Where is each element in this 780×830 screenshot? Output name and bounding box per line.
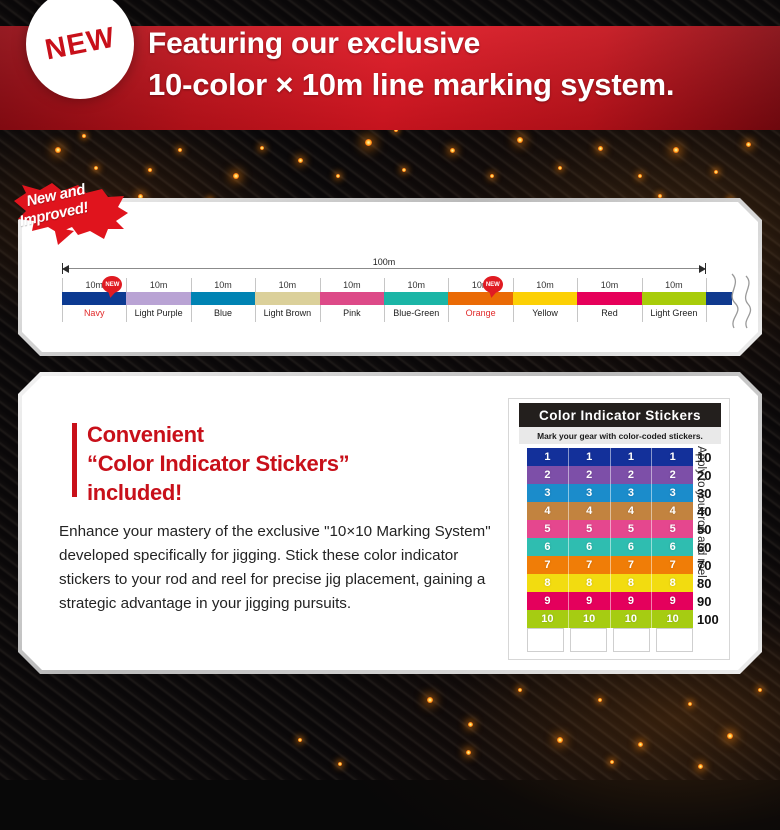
color-segment: 10mLight Green [642,278,706,322]
sticker-cell[interactable]: 2 [568,466,610,484]
segment-color-swatch [191,292,255,305]
sticker-cell[interactable]: 4 [568,502,610,520]
sticker-cell[interactable]: 3 [610,484,652,502]
sticker-cell[interactable]: 7 [527,556,568,574]
sticker-depth-label: 100 [697,610,731,628]
sticker-cell[interactable]: 5 [651,520,693,538]
sticker-cell[interactable]: 1 [527,448,568,466]
sticker-card-subtitle: Mark your gear with color-coded stickers… [537,431,703,441]
headline-line-2: “Color Indicator Stickers” [87,449,507,478]
segment-color-name: Red [577,306,641,320]
color-segment: 10mLight Brown [255,278,319,322]
segment-distance-label: 10m [191,278,255,292]
sticker-cell[interactable]: 4 [527,502,568,520]
sticker-cell[interactable]: 8 [568,574,610,592]
scale-arrow-left-icon [62,265,69,273]
sticker-cell[interactable]: 8 [610,574,652,592]
sticker-cell[interactable]: 10 [610,610,652,628]
segment-distance-label: 10m [448,278,512,292]
scale-total-label: 100m [366,257,403,267]
sticker-cell[interactable]: 9 [610,592,652,610]
headline-group: Convenient “Color Indicator Stickers” in… [87,420,507,507]
sticker-cell[interactable]: 6 [527,538,568,556]
header-title-line-2: 10-color × 10m line marking system. [148,68,674,101]
segment-color-name: Light Green [642,306,706,320]
sticker-cell[interactable]: 4 [610,502,652,520]
sticker-cell[interactable]: 2 [651,466,693,484]
sticker-cell[interactable]: 9 [568,592,610,610]
sticker-cell[interactable]: 5 [568,520,610,538]
sticker-cell[interactable]: 1 [651,448,693,466]
sticker-cell[interactable]: 9 [527,592,568,610]
segment-color-swatch [255,292,319,305]
color-segment: 10mPink [320,278,384,322]
segment-color-name: Light Brown [255,306,319,320]
scale-ruler: 100m [62,263,706,275]
header-title-group: Featuring our exclusive 10-color × 10m l… [148,28,674,102]
segment-color-name: Light Purple [126,306,190,320]
color-segment: 10mOrangeNEW [448,278,512,322]
sticker-depth-label: 90 [697,592,731,610]
sticker-grid: 1111102222203333304444405555506666607777… [527,448,693,628]
new-and-improved-badge: New and Improved! [12,183,130,245]
sticker-side-note: Apply to your rod and reel. [695,446,707,581]
segment-distance-label: 10m [642,278,706,292]
sticker-cell[interactable]: 7 [568,556,610,574]
scale-arrow-right-icon [699,265,706,273]
sticker-blank-tab[interactable] [656,628,693,652]
segment-distance-label: 10m [577,278,641,292]
body-paragraph: Enhance your mastery of the exclusive "1… [59,520,499,615]
headline-accent-bar [72,423,77,497]
sticker-row: 888880 [527,574,693,592]
new-badge-label: NEW [42,21,118,67]
sticker-cell[interactable]: 6 [568,538,610,556]
line-diagram-panel [22,202,758,352]
segment-distance-label: 10m [126,278,190,292]
sticker-cell[interactable]: 2 [610,466,652,484]
sticker-cell[interactable]: 9 [651,592,693,610]
headline-line-1: Convenient [87,420,507,449]
sticker-row: 444440 [527,502,693,520]
color-segment: 10mBlue [191,278,255,322]
sticker-cell[interactable]: 2 [527,466,568,484]
sticker-cell[interactable]: 1 [568,448,610,466]
sticker-blank-tab[interactable] [527,628,564,652]
color-segment: 10mRed [577,278,641,322]
sticker-cell[interactable]: 6 [651,538,693,556]
sticker-cell[interactable]: 3 [651,484,693,502]
segment-color-name: Blue-Green [384,306,448,320]
sticker-cell[interactable]: 3 [568,484,610,502]
color-segment: 10mNavyNEW [62,278,126,322]
segment-new-tag: NEW [483,276,503,293]
color-segment: 10mLight Purple [126,278,190,322]
sticker-cell[interactable]: 6 [610,538,652,556]
segment-color-name: Navy [62,306,126,320]
sticker-cell[interactable]: 8 [651,574,693,592]
line-cut-squiggle-icon [722,272,756,330]
segment-color-name: Orange [448,306,512,320]
sticker-cell[interactable]: 7 [651,556,693,574]
color-segment: 10mBlue-Green [384,278,448,322]
sticker-row: 999990 [527,592,693,610]
sticker-card-title: Color Indicator Stickers [539,408,701,423]
segment-distance-label: 10m [320,278,384,292]
sticker-row: 666660 [527,538,693,556]
sticker-cell[interactable]: 8 [527,574,568,592]
color-segment-list: 10mNavyNEW10mLight Purple10mBlue10mLight… [62,278,706,322]
sticker-row: 10101010100 [527,610,693,628]
sticker-row: 333330 [527,484,693,502]
sticker-cell[interactable]: 3 [527,484,568,502]
segment-color-name: Yellow [513,306,577,320]
segment-color-swatch [577,292,641,305]
sticker-row: 555550 [527,520,693,538]
sticker-blank-tab-row [527,628,693,652]
sticker-cell[interactable]: 10 [568,610,610,628]
segment-color-swatch [320,292,384,305]
segment-distance-label: 10m [255,278,319,292]
sticker-blank-tab[interactable] [570,628,607,652]
sticker-cell[interactable]: 7 [610,556,652,574]
sticker-subtitle-bar: Mark your gear with color-coded stickers… [519,427,721,444]
scale-ruler-line [62,268,706,269]
headline-line-3: included! [87,478,507,507]
sticker-blank-tab[interactable] [613,628,650,652]
color-segment: 10mYellow [513,278,577,322]
sticker-cell[interactable]: 4 [651,502,693,520]
segment-color-name: Blue [191,306,255,320]
segment-distance-label: 10m [513,278,577,292]
sticker-cell[interactable]: 1 [610,448,652,466]
sticker-row: 111110 [527,448,693,466]
sticker-row: 777770 [527,556,693,574]
segment-color-swatch [642,292,706,305]
sticker-title-bar: Color Indicator Stickers [519,403,721,427]
header-title-line-1: Featuring our exclusive [148,28,674,60]
sticker-row: 222220 [527,466,693,484]
sticker-cell[interactable]: 5 [610,520,652,538]
segment-color-swatch [62,292,126,305]
segment-color-swatch [384,292,448,305]
segment-color-swatch [448,292,512,305]
segment-color-name: Pink [320,306,384,320]
sticker-cell[interactable]: 5 [527,520,568,538]
segment-distance-label: 10m [384,278,448,292]
sticker-cell[interactable]: 10 [527,610,568,628]
sticker-cell[interactable]: 10 [651,610,693,628]
segment-color-swatch [513,292,577,305]
segment-color-swatch [126,292,190,305]
